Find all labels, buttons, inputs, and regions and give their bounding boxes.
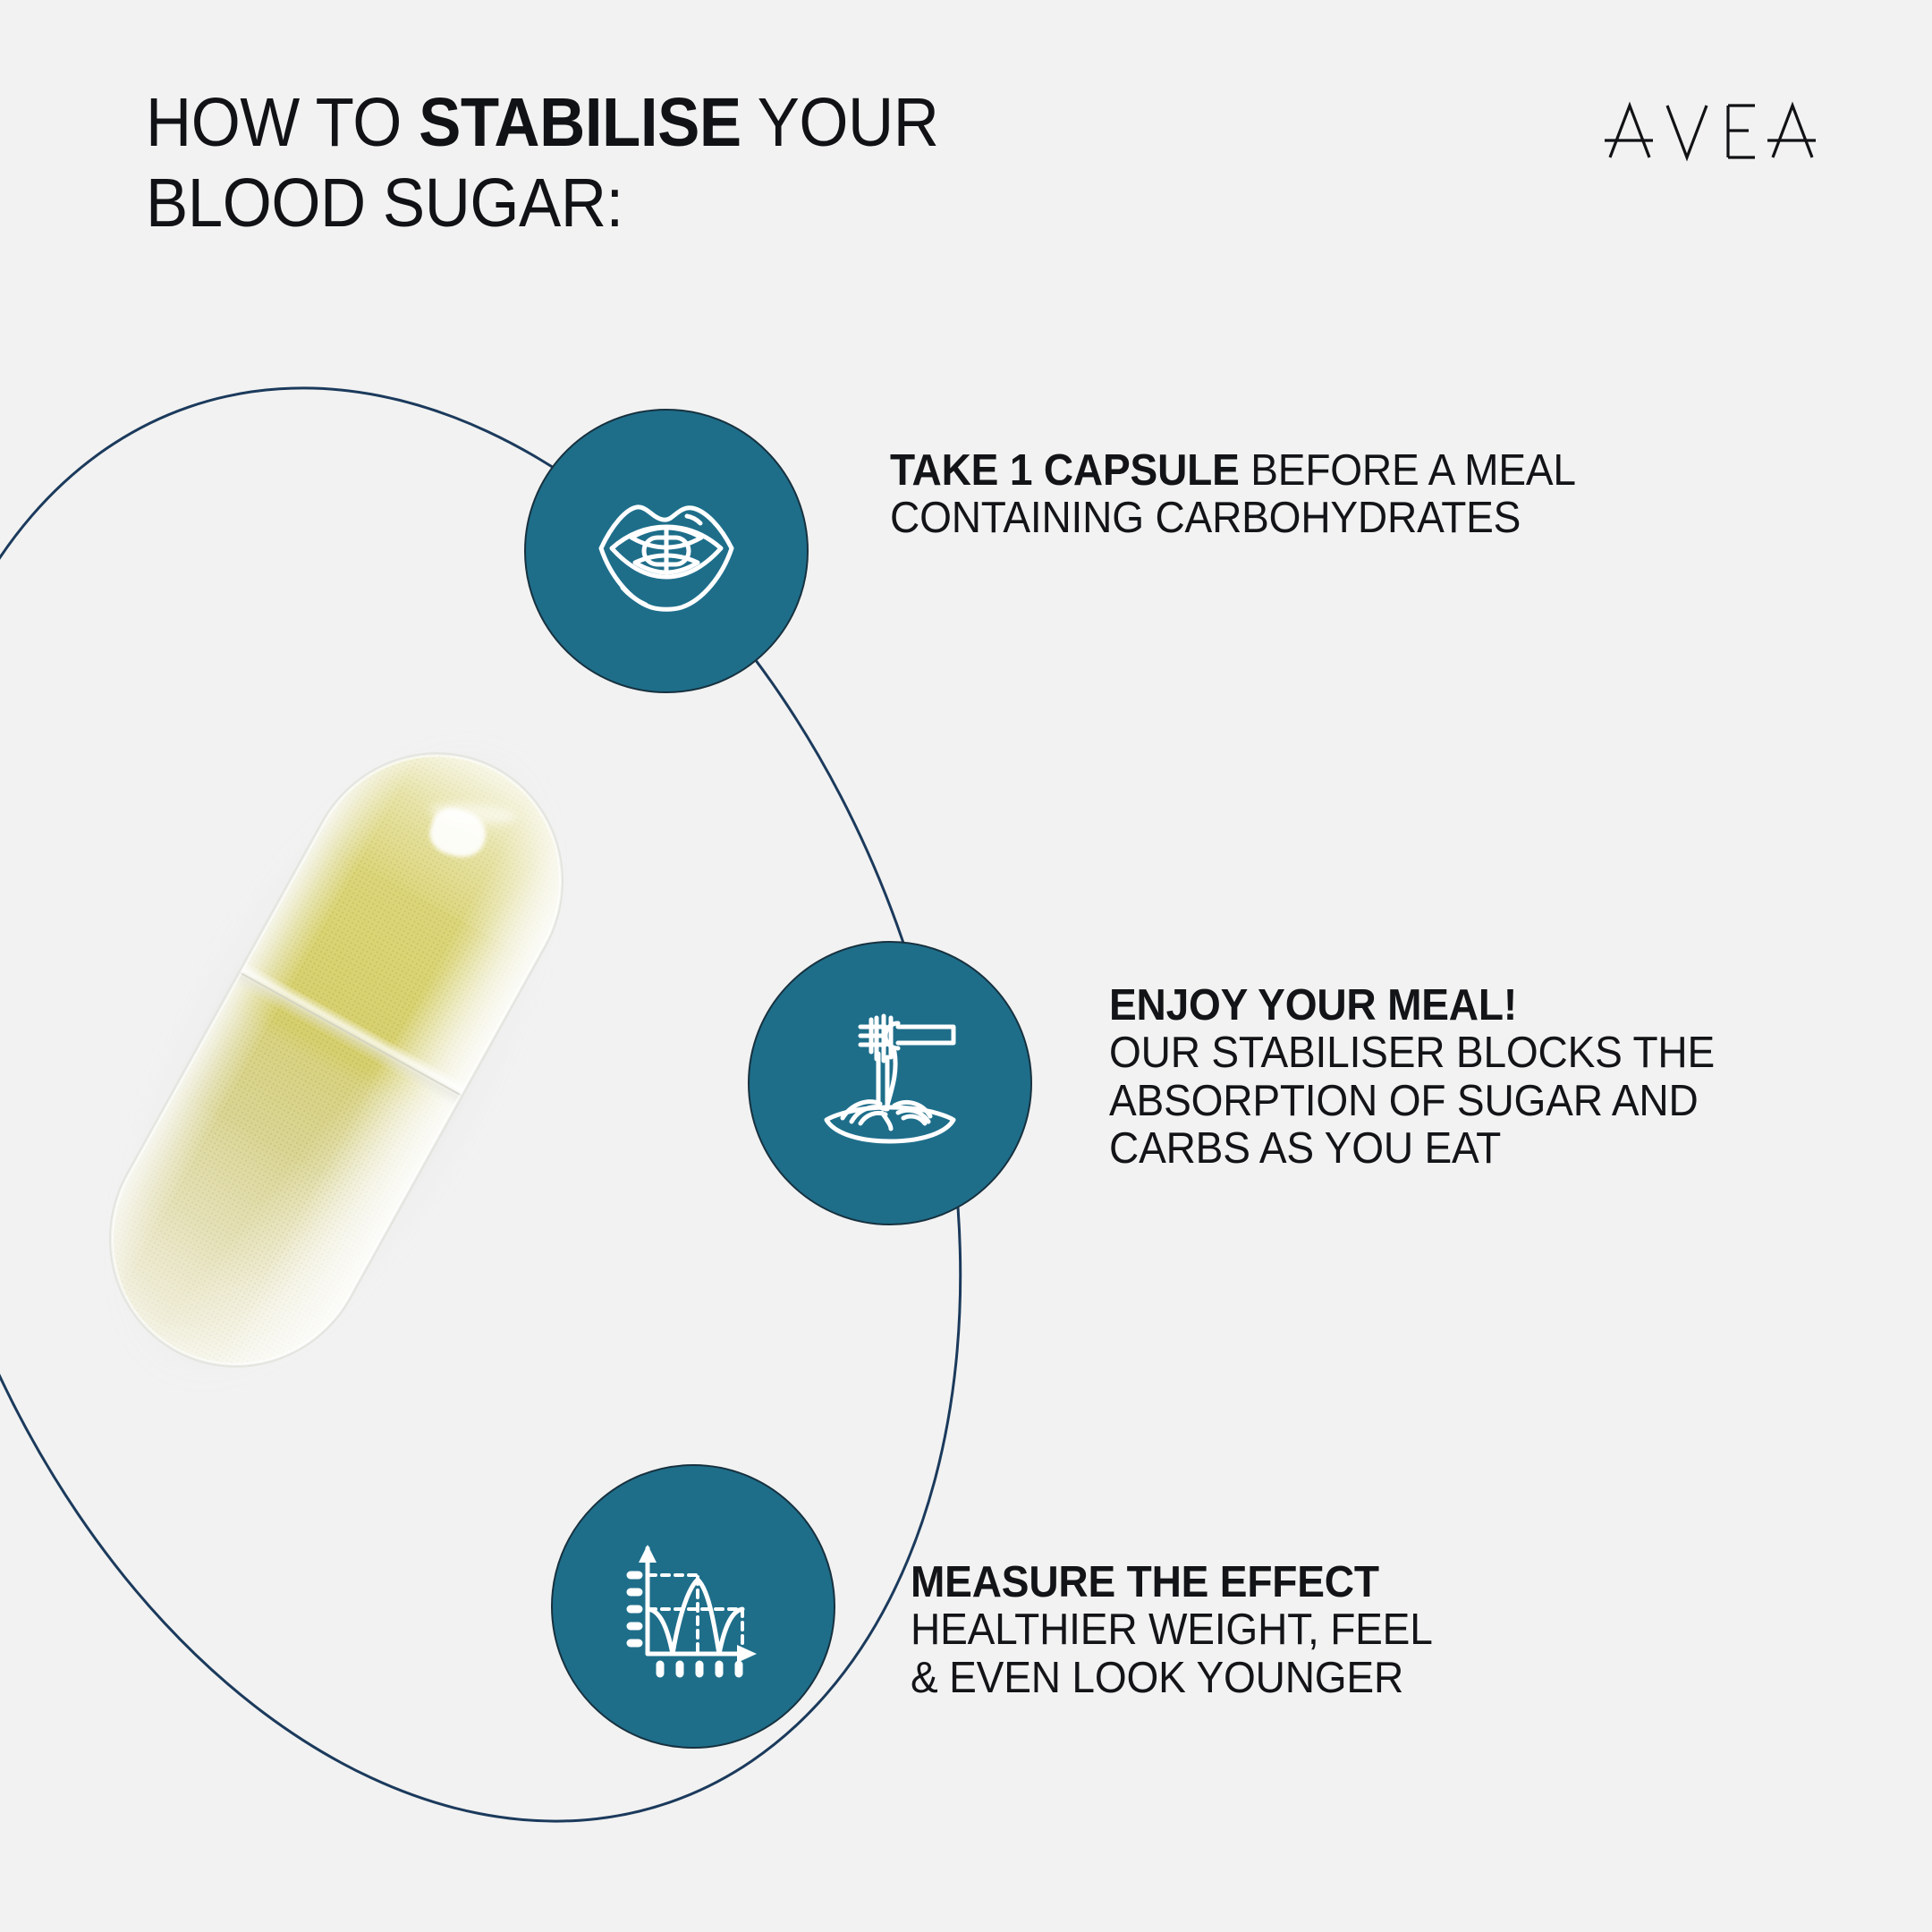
page-title: HOW TO STABILISE YOURBLOOD SUGAR: — [146, 82, 938, 243]
avea-wordmark-icon — [1603, 97, 1818, 165]
step-1-icon-bubble[interactable] — [524, 409, 809, 693]
step-2-heading: ENJOY YOUR MEAL! — [1109, 982, 1816, 1030]
step-3-icon-bubble[interactable] — [551, 1464, 835, 1749]
capsule-product-image — [85, 680, 586, 1449]
title-line-2: BLOOD SUGAR: — [146, 165, 623, 241]
step-1-heading: TAKE 1 CAPSULE — [890, 446, 1240, 495]
title-emphasis: STABILISE — [419, 84, 741, 161]
capsule-outline — [62, 706, 611, 1414]
avea-logo — [1603, 97, 1818, 165]
spaghetti-plate-fork-icon — [805, 998, 975, 1168]
step-3-text: MEASURE THE EFFECTHEALTHIER WEIGHT, FEEL… — [911, 1559, 1650, 1702]
line-chart-icon — [608, 1521, 778, 1691]
title-line-1-pre: HOW TO — [146, 84, 419, 161]
step-2-body: OUR STABILISER BLOCKS THE ABSORPTION OF … — [1109, 1030, 1816, 1173]
step-1-text: TAKE 1 CAPSULE BEFORE A MEAL CONTAINING … — [890, 447, 1781, 543]
infographic-canvas: HOW TO STABILISE YOURBLOOD SUGAR: — [0, 0, 1932, 1932]
mouth-with-capsule-icon — [581, 466, 751, 636]
step-3-body: HEALTHIER WEIGHT, FEEL & EVEN LOOK YOUNG… — [911, 1606, 1650, 1702]
step-2-text: ENJOY YOUR MEAL!OUR STABILISER BLOCKS TH… — [1109, 982, 1816, 1174]
step-2-icon-bubble[interactable] — [748, 941, 1032, 1225]
title-line-1-post: YOUR — [741, 84, 939, 161]
step-3-heading: MEASURE THE EFFECT — [911, 1559, 1650, 1606]
